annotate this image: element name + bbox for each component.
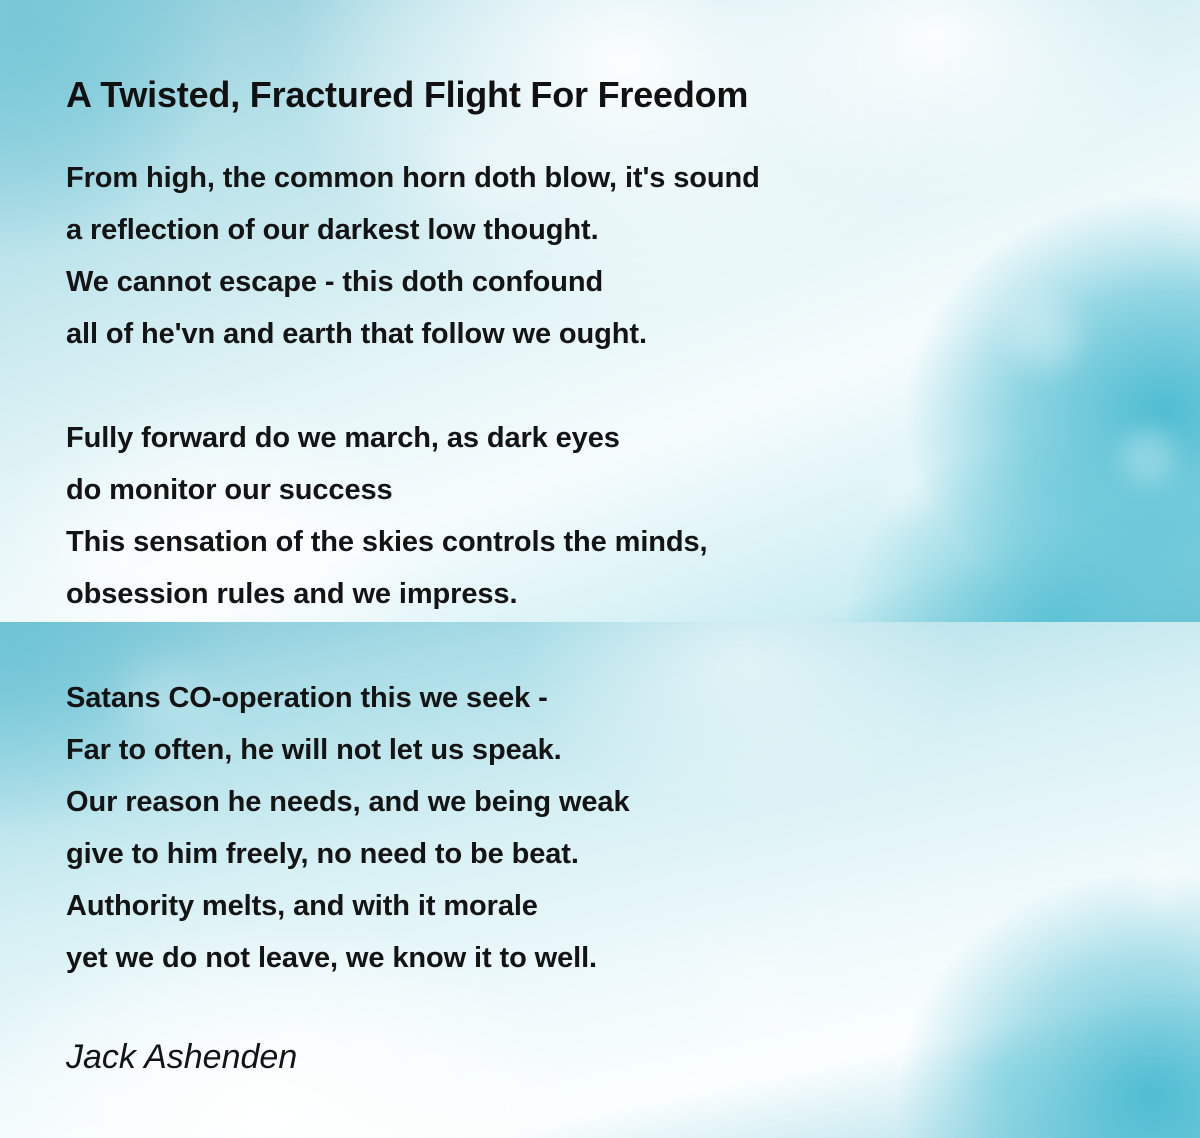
poem-line: Fully forward do we march, as dark eyes	[66, 412, 1126, 464]
page-title: A Twisted, Fractured Flight For Freedom	[66, 74, 748, 116]
poem-line: yet we do not leave, we know it to well.	[66, 932, 1126, 984]
poem-line: Satans CO-operation this we seek -	[66, 672, 1126, 724]
poem-line: This sensation of the skies controls the…	[66, 516, 1126, 568]
poem-line: Far to often, he will not let us speak.	[66, 724, 1126, 776]
poem-line: obsession rules and we impress.	[66, 568, 1126, 620]
poem-line: give to him freely, no need to be beat.	[66, 828, 1126, 880]
stanza: Fully forward do we march, as dark eyes …	[66, 412, 1126, 620]
poem-line: Our reason he needs, and we being weak	[66, 776, 1126, 828]
poem-body: From high, the common horn doth blow, it…	[66, 152, 1126, 1036]
poem-line: We cannot escape - this doth confound	[66, 256, 1126, 308]
poem-graphic: A Twisted, Fractured Flight For Freedom …	[0, 0, 1200, 1138]
poem-line: do monitor our success	[66, 464, 1126, 516]
stanza: Satans CO-operation this we seek - Far t…	[66, 672, 1126, 984]
poem-line: all of he'vn and earth that follow we ou…	[66, 308, 1126, 360]
poem-line: Authority melts, and with it morale	[66, 880, 1126, 932]
poem-line: From high, the common horn doth blow, it…	[66, 152, 1126, 204]
author-byline: Jack Ashenden	[66, 1038, 297, 1077]
poem-text-layer: A Twisted, Fractured Flight For Freedom …	[0, 0, 1200, 1138]
stanza: From high, the common horn doth blow, it…	[66, 152, 1126, 360]
poem-line: a reflection of our darkest low thought.	[66, 204, 1126, 256]
